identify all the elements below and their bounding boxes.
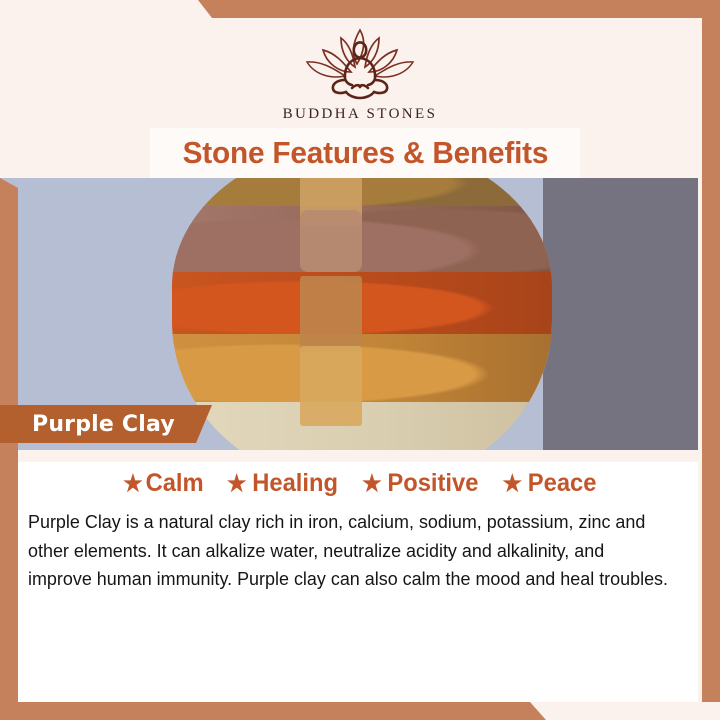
brand-logo: BUDDHA STONES [0,22,720,123]
benefit-positive: ★ Positive [362,469,478,498]
star-icon: ★ [227,472,247,495]
product-info-card: BUDDHA STONES Stone Features & Benefits … [0,0,720,720]
photo-right-backdrop [543,178,703,450]
stone-name-label: Purple Clay [32,412,175,437]
benefits-row: ★ Calm ★ Healing ★ Positive ★ Peace [18,462,702,504]
title-band: Stone Features & Benefits [150,128,580,178]
benefit-label: Calm [146,469,204,498]
plate-clip [172,178,552,450]
brand-name: BUDDHA STONES [283,106,438,123]
powder-swatch-4 [300,346,362,426]
powder-band-5 [172,402,552,450]
powder-swatch-2 [300,210,362,272]
left-accent-bar-lower [0,470,18,720]
info-panel: ★ Calm ★ Healing ★ Positive ★ Peace Purp… [18,450,702,702]
lotus-meditation-icon [285,22,435,102]
white-plate [172,178,552,450]
benefit-peace: ★ Peace [502,469,596,498]
benefit-healing: ★ Healing [227,469,338,498]
star-icon: ★ [362,472,382,495]
right-accent-inner-gap [698,18,702,702]
page-title: Stone Features & Benefits [182,135,548,171]
bottom-accent-bar [0,702,546,720]
benefit-label: Peace [527,469,596,498]
powder-swatch-3 [300,276,362,352]
star-icon: ★ [502,472,522,495]
top-accent-bar [196,0,720,18]
benefit-label: Healing [252,469,338,498]
benefit-calm: ★ Calm [124,469,205,498]
benefits-top-strip [18,450,702,462]
right-accent-bar [702,18,720,702]
stone-name-banner: Purple Clay [0,405,212,443]
stone-description: Purple Clay is a natural clay rich in ir… [28,508,668,594]
benefit-label: Positive [387,469,478,498]
star-icon: ★ [124,472,144,495]
